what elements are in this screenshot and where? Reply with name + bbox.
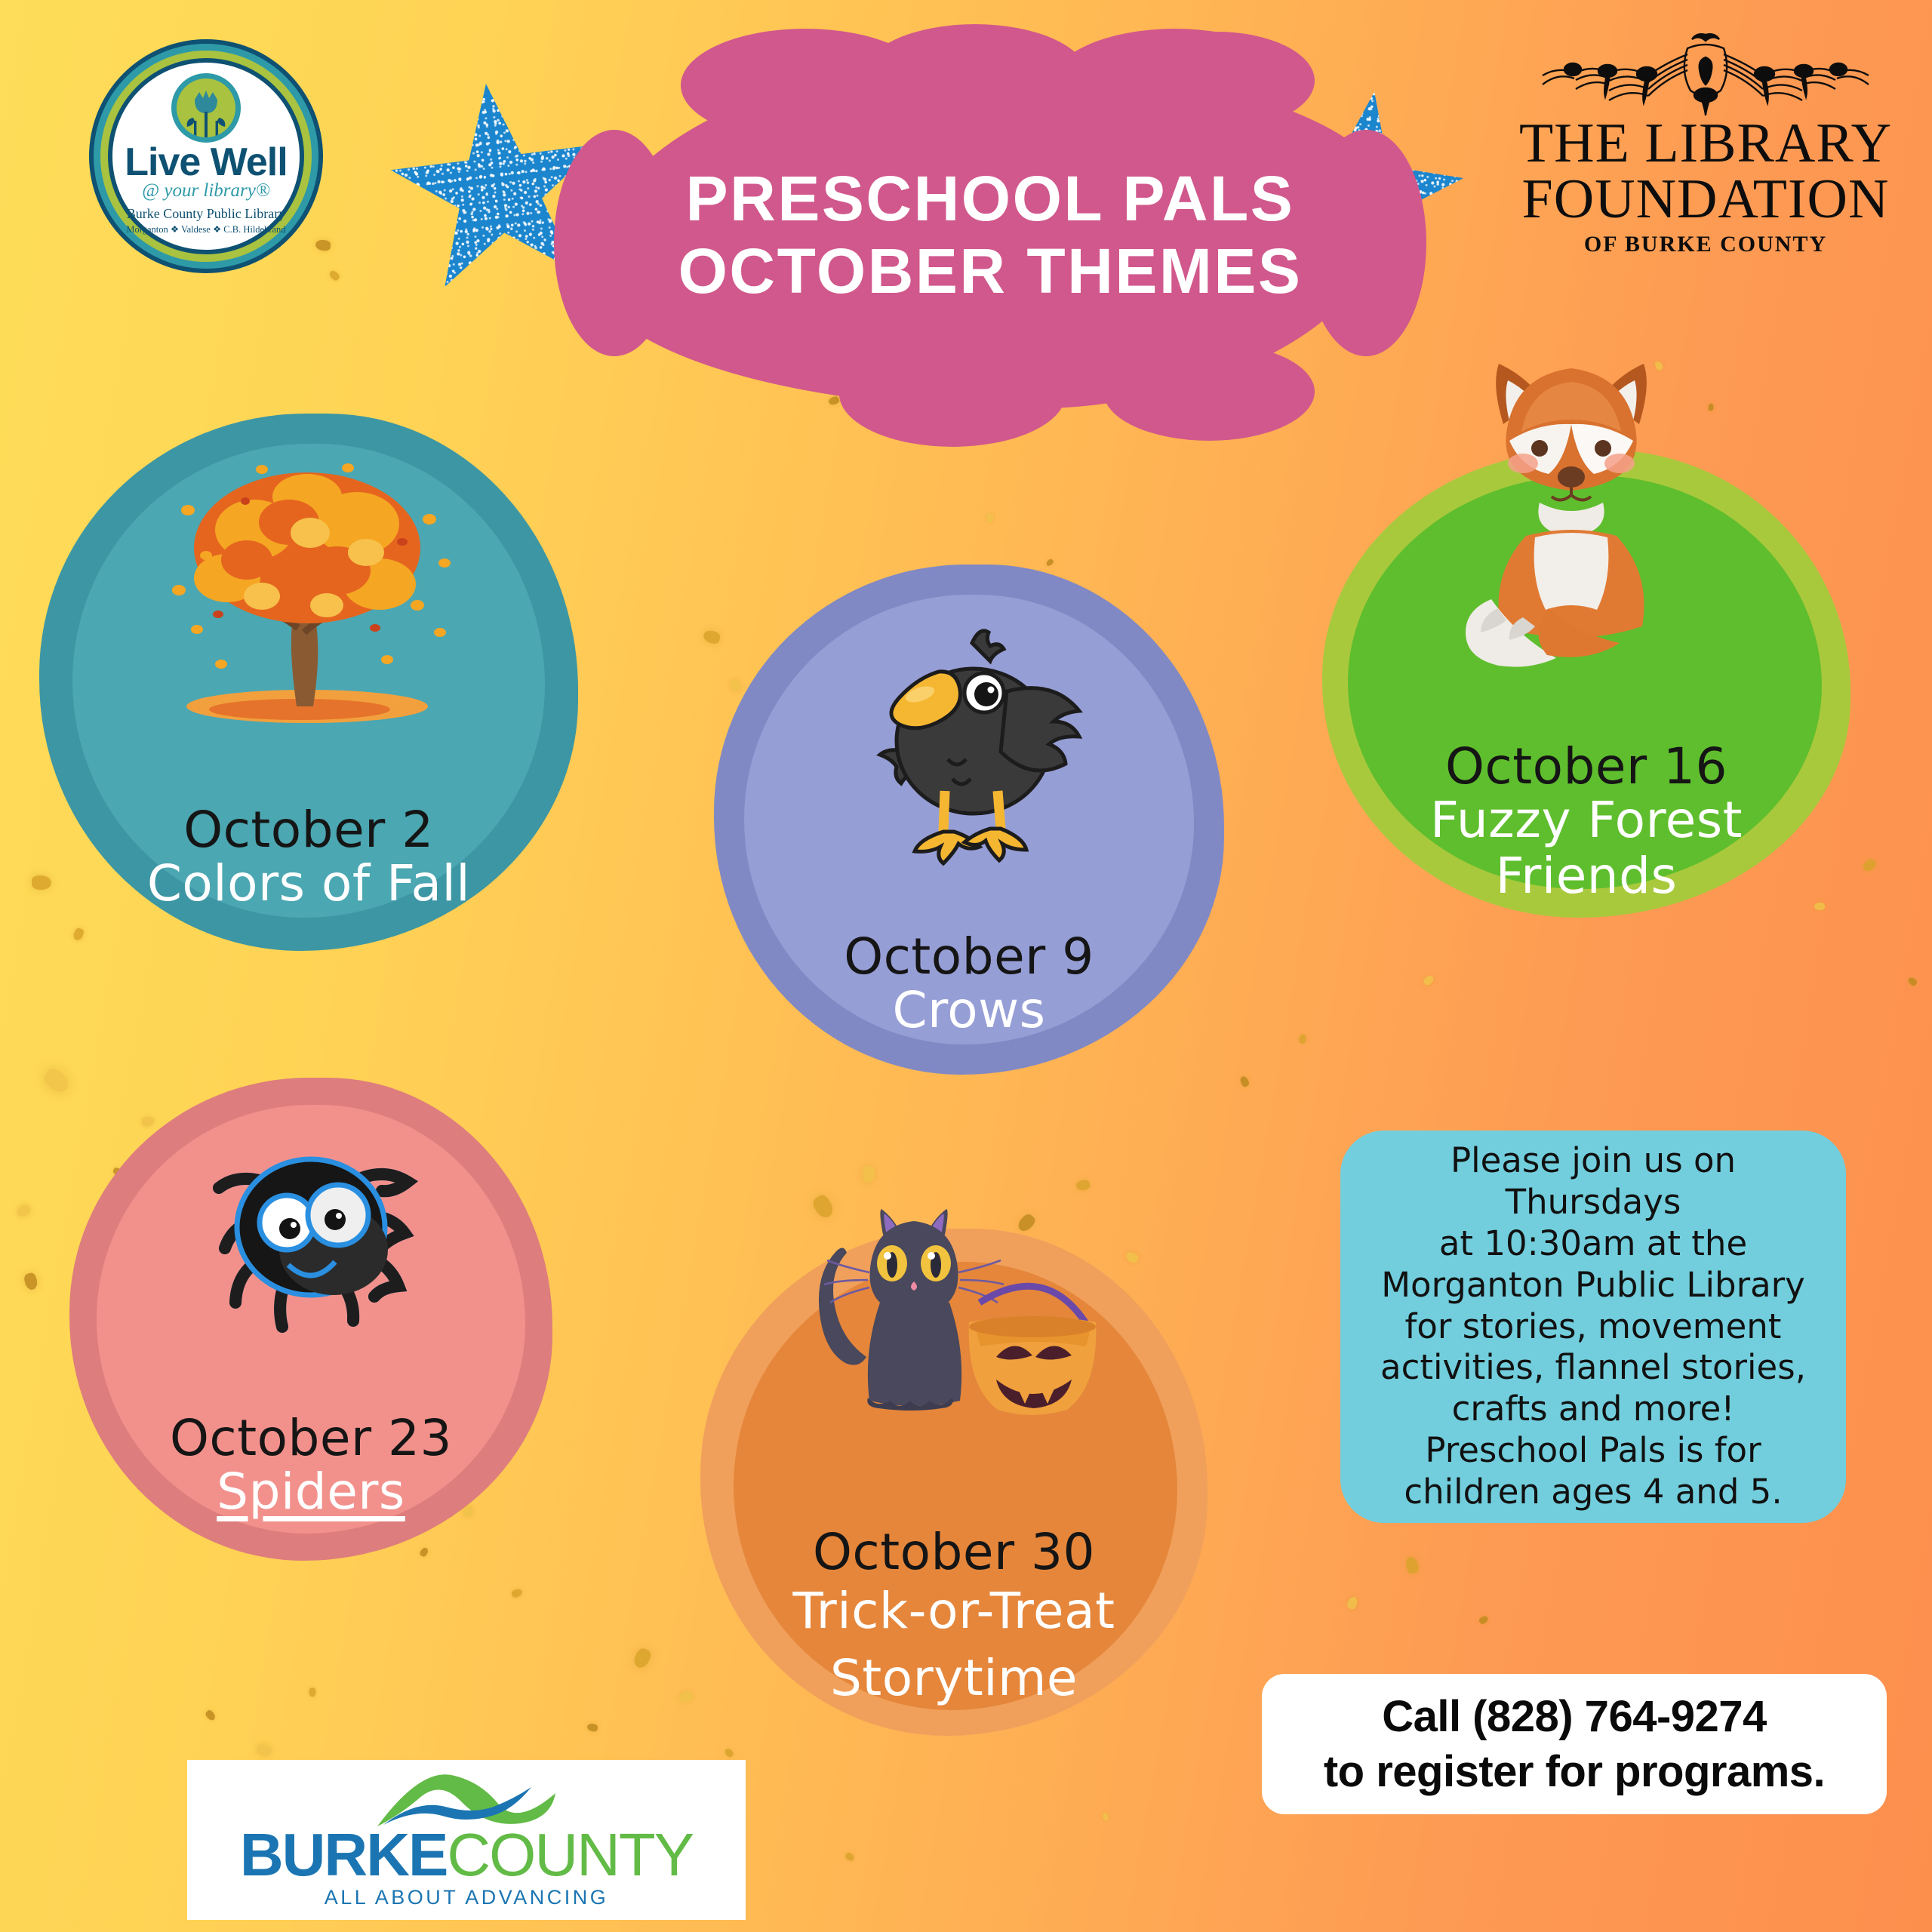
program-info-text: Please join us on Thursdays at 10:30am a… bbox=[1360, 1140, 1826, 1513]
gold-fleck bbox=[724, 1747, 735, 1758]
gold-fleck bbox=[632, 1647, 653, 1670]
library-foundation-line3: OF BURKE COUNTY bbox=[1509, 232, 1902, 257]
gold-fleck bbox=[844, 1851, 856, 1862]
heraldic-crest-swag-icon bbox=[1509, 32, 1902, 116]
library-foundation-logo: THE LIBRARY FOUNDATION OF BURKE COUNTY bbox=[1509, 32, 1902, 257]
gold-fleck bbox=[1102, 1813, 1109, 1822]
gold-fleck bbox=[315, 239, 331, 251]
theme-name: Colors of Fall bbox=[39, 856, 578, 912]
fox-icon bbox=[1413, 343, 1730, 682]
live-well-title-line1: Live bbox=[125, 140, 200, 184]
theme-labels: October 23 Spiders bbox=[69, 1412, 552, 1520]
theme-labels: October 30 Trick-or-Treat Storytime bbox=[700, 1526, 1207, 1712]
burke-word: BURKE bbox=[240, 1821, 447, 1888]
theme-card-oct30[interactable]: October 30 Trick-or-Treat Storytime bbox=[700, 1229, 1207, 1736]
theme-date: October 30 bbox=[700, 1526, 1207, 1578]
live-well-logo: Live Well @ your library® Burke County P… bbox=[89, 39, 323, 273]
crow-bird-icon bbox=[826, 611, 1112, 875]
gold-fleck bbox=[256, 1743, 273, 1757]
live-well-title-line2: Well bbox=[211, 140, 288, 184]
register-instruction-line: to register for programs. bbox=[1324, 1744, 1825, 1799]
gold-fleck bbox=[1299, 1034, 1307, 1044]
library-foundation-line2: FOUNDATION bbox=[1509, 171, 1902, 227]
theme-name: Trick-or-Treat Storytime bbox=[700, 1578, 1207, 1712]
theme-labels: October 9 Crows bbox=[714, 931, 1224, 1038]
theme-date: October 16 bbox=[1322, 740, 1850, 792]
gold-fleck bbox=[1422, 974, 1435, 987]
black-cat-with-pumpkin-pail-icon bbox=[774, 1209, 1121, 1458]
page-title: PRESCHOOL PALS OCTOBER THEMES bbox=[678, 163, 1303, 308]
theme-name: Fuzzy Forest Friends bbox=[1322, 792, 1850, 904]
theme-name: Crows bbox=[714, 983, 1224, 1038]
gold-fleck bbox=[862, 1165, 875, 1183]
gold-fleck bbox=[1404, 1555, 1420, 1575]
spider-icon bbox=[154, 1120, 471, 1369]
theme-card-oct9[interactable]: October 9 Crows bbox=[714, 565, 1224, 1075]
gold-fleck bbox=[1478, 1614, 1490, 1625]
gold-fleck bbox=[586, 1723, 598, 1732]
theme-card-oct23[interactable]: October 23 Spiders bbox=[69, 1078, 552, 1561]
call-to-register-box[interactable]: Call (828) 764-9274 to register for prog… bbox=[1262, 1674, 1887, 1814]
burke-county-logo: BURKECOUNTY ALL ABOUT ADVANCING bbox=[187, 1760, 746, 1920]
tulip-flower-icon bbox=[171, 73, 241, 143]
phone-number-line: Call (828) 764-9274 bbox=[1382, 1689, 1767, 1744]
gold-fleck bbox=[15, 1203, 32, 1219]
gold-fleck bbox=[986, 513, 994, 523]
gold-fleck bbox=[205, 1709, 217, 1721]
theme-date: October 2 bbox=[39, 804, 578, 856]
page-title-line2: OCTOBER THEMES bbox=[678, 235, 1303, 308]
burke-tagline: ALL ABOUT ADVANCING bbox=[325, 1886, 609, 1909]
page-title-banner: PRESCHOOL PALS OCTOBER THEMES bbox=[590, 62, 1390, 409]
theme-labels: October 2 Colors of Fall bbox=[39, 804, 578, 912]
gold-fleck bbox=[1861, 857, 1878, 873]
program-info-box: Please join us on Thursdays at 10:30am a… bbox=[1340, 1131, 1846, 1523]
theme-name: Spiders bbox=[69, 1464, 552, 1520]
theme-date: October 23 bbox=[69, 1412, 552, 1464]
gold-fleck bbox=[328, 269, 340, 282]
gold-fleck bbox=[41, 1066, 72, 1096]
gold-fleck bbox=[309, 1687, 316, 1697]
gold-fleck bbox=[1075, 1179, 1091, 1191]
live-well-subtitle: @ your library® bbox=[142, 180, 270, 202]
gold-fleck bbox=[828, 395, 841, 407]
page-title-line1: PRESCHOOL PALS bbox=[678, 163, 1303, 235]
live-well-library-name: Burke County Public Library bbox=[127, 206, 285, 222]
theme-card-oct16[interactable]: October 16 Fuzzy Forest Friends bbox=[1322, 450, 1850, 918]
gold-fleck bbox=[1238, 1075, 1250, 1088]
gold-fleck bbox=[678, 1689, 694, 1704]
gold-fleck bbox=[511, 1588, 524, 1599]
county-word: COUNTY bbox=[447, 1821, 693, 1888]
poster-canvas: Live Well @ your library® Burke County P… bbox=[0, 0, 1932, 1932]
library-foundation-line1: THE LIBRARY bbox=[1509, 116, 1902, 171]
gold-fleck bbox=[1907, 976, 1918, 986]
live-well-branches: Morganton ❖ Valdese ❖ C.B. Hildebrand bbox=[126, 223, 285, 235]
theme-card-oct2[interactable]: October 2 Colors of Fall bbox=[39, 414, 578, 951]
autumn-tree-icon bbox=[149, 457, 466, 729]
gold-fleck bbox=[1346, 1595, 1359, 1610]
theme-date: October 9 bbox=[714, 931, 1224, 983]
theme-labels: October 16 Fuzzy Forest Friends bbox=[1322, 740, 1850, 904]
gold-fleck bbox=[23, 1272, 38, 1291]
